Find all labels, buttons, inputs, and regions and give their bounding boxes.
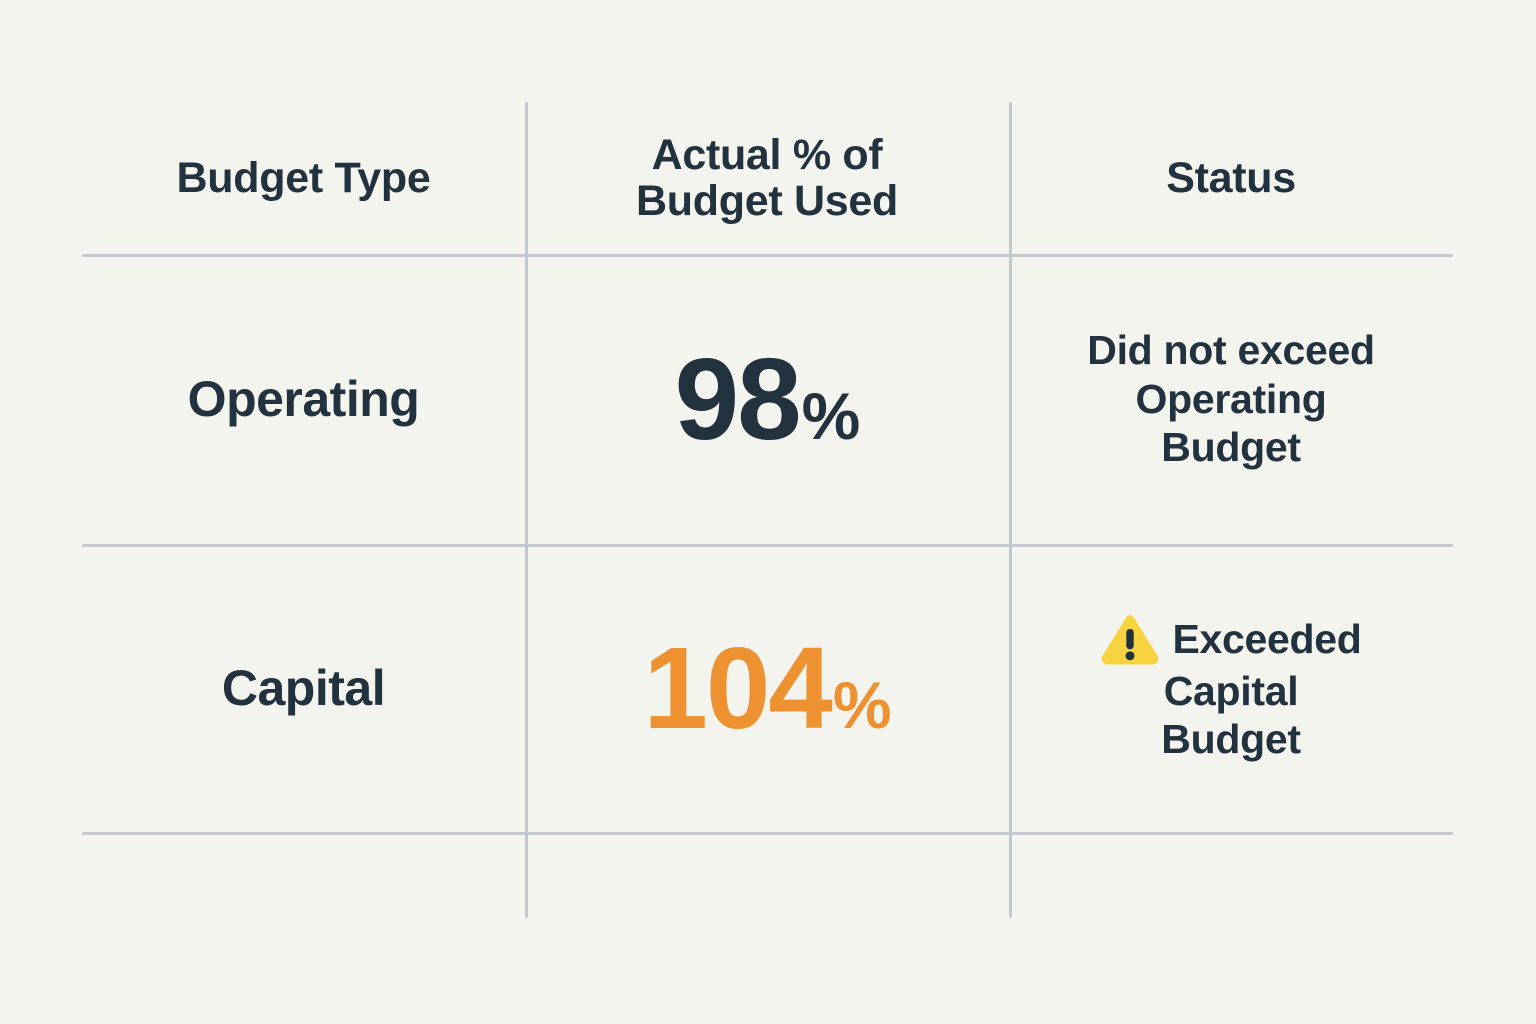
- status-line-1: Did not exceed: [1015, 326, 1447, 374]
- percent-used-capital: 104%: [525, 630, 1009, 746]
- percent-sign: %: [802, 383, 860, 449]
- column-header-line-1: Actual % of: [652, 131, 883, 179]
- column-header-budget-type: Budget Type: [82, 155, 525, 201]
- table-header-row: Budget Type Actual % of Budget Used Stat…: [82, 102, 1453, 254]
- status-line-3: Budget: [1015, 715, 1447, 763]
- budget-summary-table: Budget Type Actual % of Budget Used Stat…: [0, 0, 1536, 1024]
- budget-type-operating: Operating: [82, 372, 525, 427]
- status-operating: Did not exceed Operating Budget: [1009, 326, 1453, 471]
- column-header-actual-percent: Actual % of Budget Used: [525, 132, 1009, 225]
- percent-number: 98: [675, 341, 800, 457]
- table-body: Budget Type Actual % of Budget Used Stat…: [82, 102, 1453, 918]
- status-line-3: Budget: [1015, 423, 1447, 471]
- column-header-status: Status: [1009, 155, 1453, 201]
- table-row: Capital 104% Exceeded: [82, 544, 1453, 832]
- percent-used-operating: 98%: [525, 341, 1009, 457]
- status-line-1: Exceeded: [1172, 615, 1361, 663]
- budget-type-capital: Capital: [82, 661, 525, 716]
- status-line-1-row: Exceeded: [1015, 613, 1447, 667]
- status-line-2: Operating: [1015, 375, 1447, 423]
- percent-sign: %: [833, 672, 891, 738]
- table-footer-row: [82, 832, 1453, 918]
- status-capital: Exceeded Capital Budget: [1009, 613, 1453, 764]
- warning-triangle-icon: [1100, 613, 1160, 667]
- column-header-line-2: Budget Used: [636, 177, 898, 225]
- status-line-2: Capital: [1015, 667, 1447, 715]
- percent-number: 104: [643, 630, 831, 746]
- table-row: Operating 98% Did not exceed Operating B…: [82, 254, 1453, 544]
